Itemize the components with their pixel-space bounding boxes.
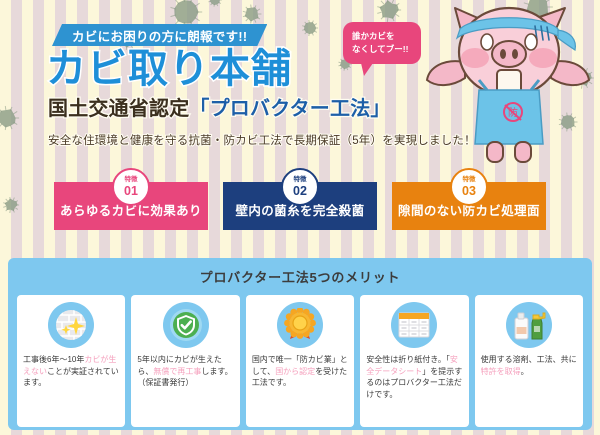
- feature-caption-02: 特徴: [294, 177, 307, 184]
- pig-mascot: 防: [425, 2, 593, 167]
- feature-card-02[interactable]: 特徴 02 壁内の菌糸を完全殺菌: [223, 182, 377, 230]
- spray-bottle-icon: [512, 309, 546, 341]
- shield-check-icon: [169, 308, 203, 342]
- ribbon-text: カビにお困りの方に朗報です!!: [72, 26, 247, 45]
- sub-title: 国土交通省認定「プロバクター工法」: [48, 99, 391, 119]
- page-title: カビ取り本舗: [46, 49, 292, 89]
- merit-text: 5年以内にカビが生えたら、無償で再工事します。（保証書発行）: [137, 354, 233, 389]
- merit-text-part: 使用する溶剤、工法、共に: [481, 355, 577, 364]
- feature-badges: 特徴 01 あらゆるカビに効果あり 特徴 02 壁内の菌糸を完全殺菌 特徴 03…: [0, 170, 600, 232]
- merit-text-part: 安全性は折り紙付き。「: [366, 355, 450, 364]
- feature-number-01: 01: [124, 185, 138, 198]
- merit-icon-wrap: [391, 302, 437, 348]
- ribbon-banner: カビにお困りの方に朗報です!!: [52, 24, 267, 46]
- feature-caption-03: 特徴: [463, 177, 476, 184]
- feature-badge-01: 特徴 01: [112, 168, 150, 206]
- bubble-line-1: 誰かカビを: [352, 30, 421, 43]
- brick-wall-sparkle-icon: [54, 308, 88, 342]
- merit-card[interactable]: 5年以内にカビが生えたら、無償で再工事します。（保証書発行）: [131, 295, 239, 427]
- sub-title-accent: 「プロバクター工法」: [189, 98, 390, 120]
- feature-badge-03: 特徴 03: [450, 168, 488, 206]
- merit-text: 工事後6年〜10年カビが生えないことが実証されています。: [23, 354, 119, 389]
- merit-icon-wrap: [48, 302, 94, 348]
- merit-card[interactable]: 使用する溶剤、工法、共に特許を取得。: [475, 295, 583, 427]
- gold-medal-icon: [283, 308, 317, 342]
- merit-text: 使用する溶剤、工法、共に特許を取得。: [481, 354, 577, 377]
- feature-number-02: 02: [293, 185, 307, 198]
- merit-text: 国内で唯一「防カビ業」として、国から認定を受けた工法です。: [252, 354, 348, 389]
- merit-text-part: 工事後6年〜10年: [23, 355, 84, 364]
- merit-card[interactable]: 安全性は折り紙付き。「安全データシート」を提示するのはプロバクター工法だけです。: [360, 295, 468, 427]
- merits-panel: プロバクター工法5つのメリット 工事後6年〜: [8, 258, 592, 430]
- merit-text-part: 。: [521, 367, 529, 376]
- merit-icon-wrap: [506, 302, 552, 348]
- merit-card-list: 工事後6年〜10年カビが生えないことが実証されています。 5年以内にカビが生えた…: [17, 295, 583, 427]
- merit-text-highlight: 無償で再工事: [153, 367, 201, 376]
- merit-text-highlight: 特許を取得: [481, 367, 521, 376]
- feature-caption-01: 特徴: [125, 177, 138, 184]
- mascot-speech-bubble: 誰かカビを なくしてブー!!: [343, 22, 421, 64]
- feature-badge-02: 特徴 02: [281, 168, 319, 206]
- merit-text-highlight: 国から認定: [275, 367, 315, 376]
- bubble-line-2: なくしてブー!!: [352, 43, 421, 56]
- merit-card[interactable]: 国内で唯一「防カビ業」として、国から認定を受けた工法です。: [246, 295, 354, 427]
- merits-title: プロバクター工法5つのメリット: [17, 267, 583, 286]
- merit-icon-wrap: [163, 302, 209, 348]
- sub-title-prefix: 国土交通省認定: [48, 98, 189, 120]
- merit-card[interactable]: 工事後6年〜10年カビが生えないことが実証されています。: [17, 295, 125, 427]
- feature-card-01[interactable]: 特徴 01 あらゆるカビに効果あり: [54, 182, 208, 230]
- feature-card-03[interactable]: 特徴 03 隙間のない防カビ処理面: [392, 182, 546, 230]
- merit-icon-wrap: [277, 302, 323, 348]
- feature-number-03: 03: [462, 185, 476, 198]
- tagline: 安全な住環境と健康を守る抗菌・防カビ工法で長期保証（5年）を実現しました！: [48, 132, 476, 148]
- data-sheet-icon: [397, 310, 431, 340]
- merit-text: 安全性は折り紙付き。「安全データシート」を提示するのはプロバクター工法だけです。: [366, 354, 462, 400]
